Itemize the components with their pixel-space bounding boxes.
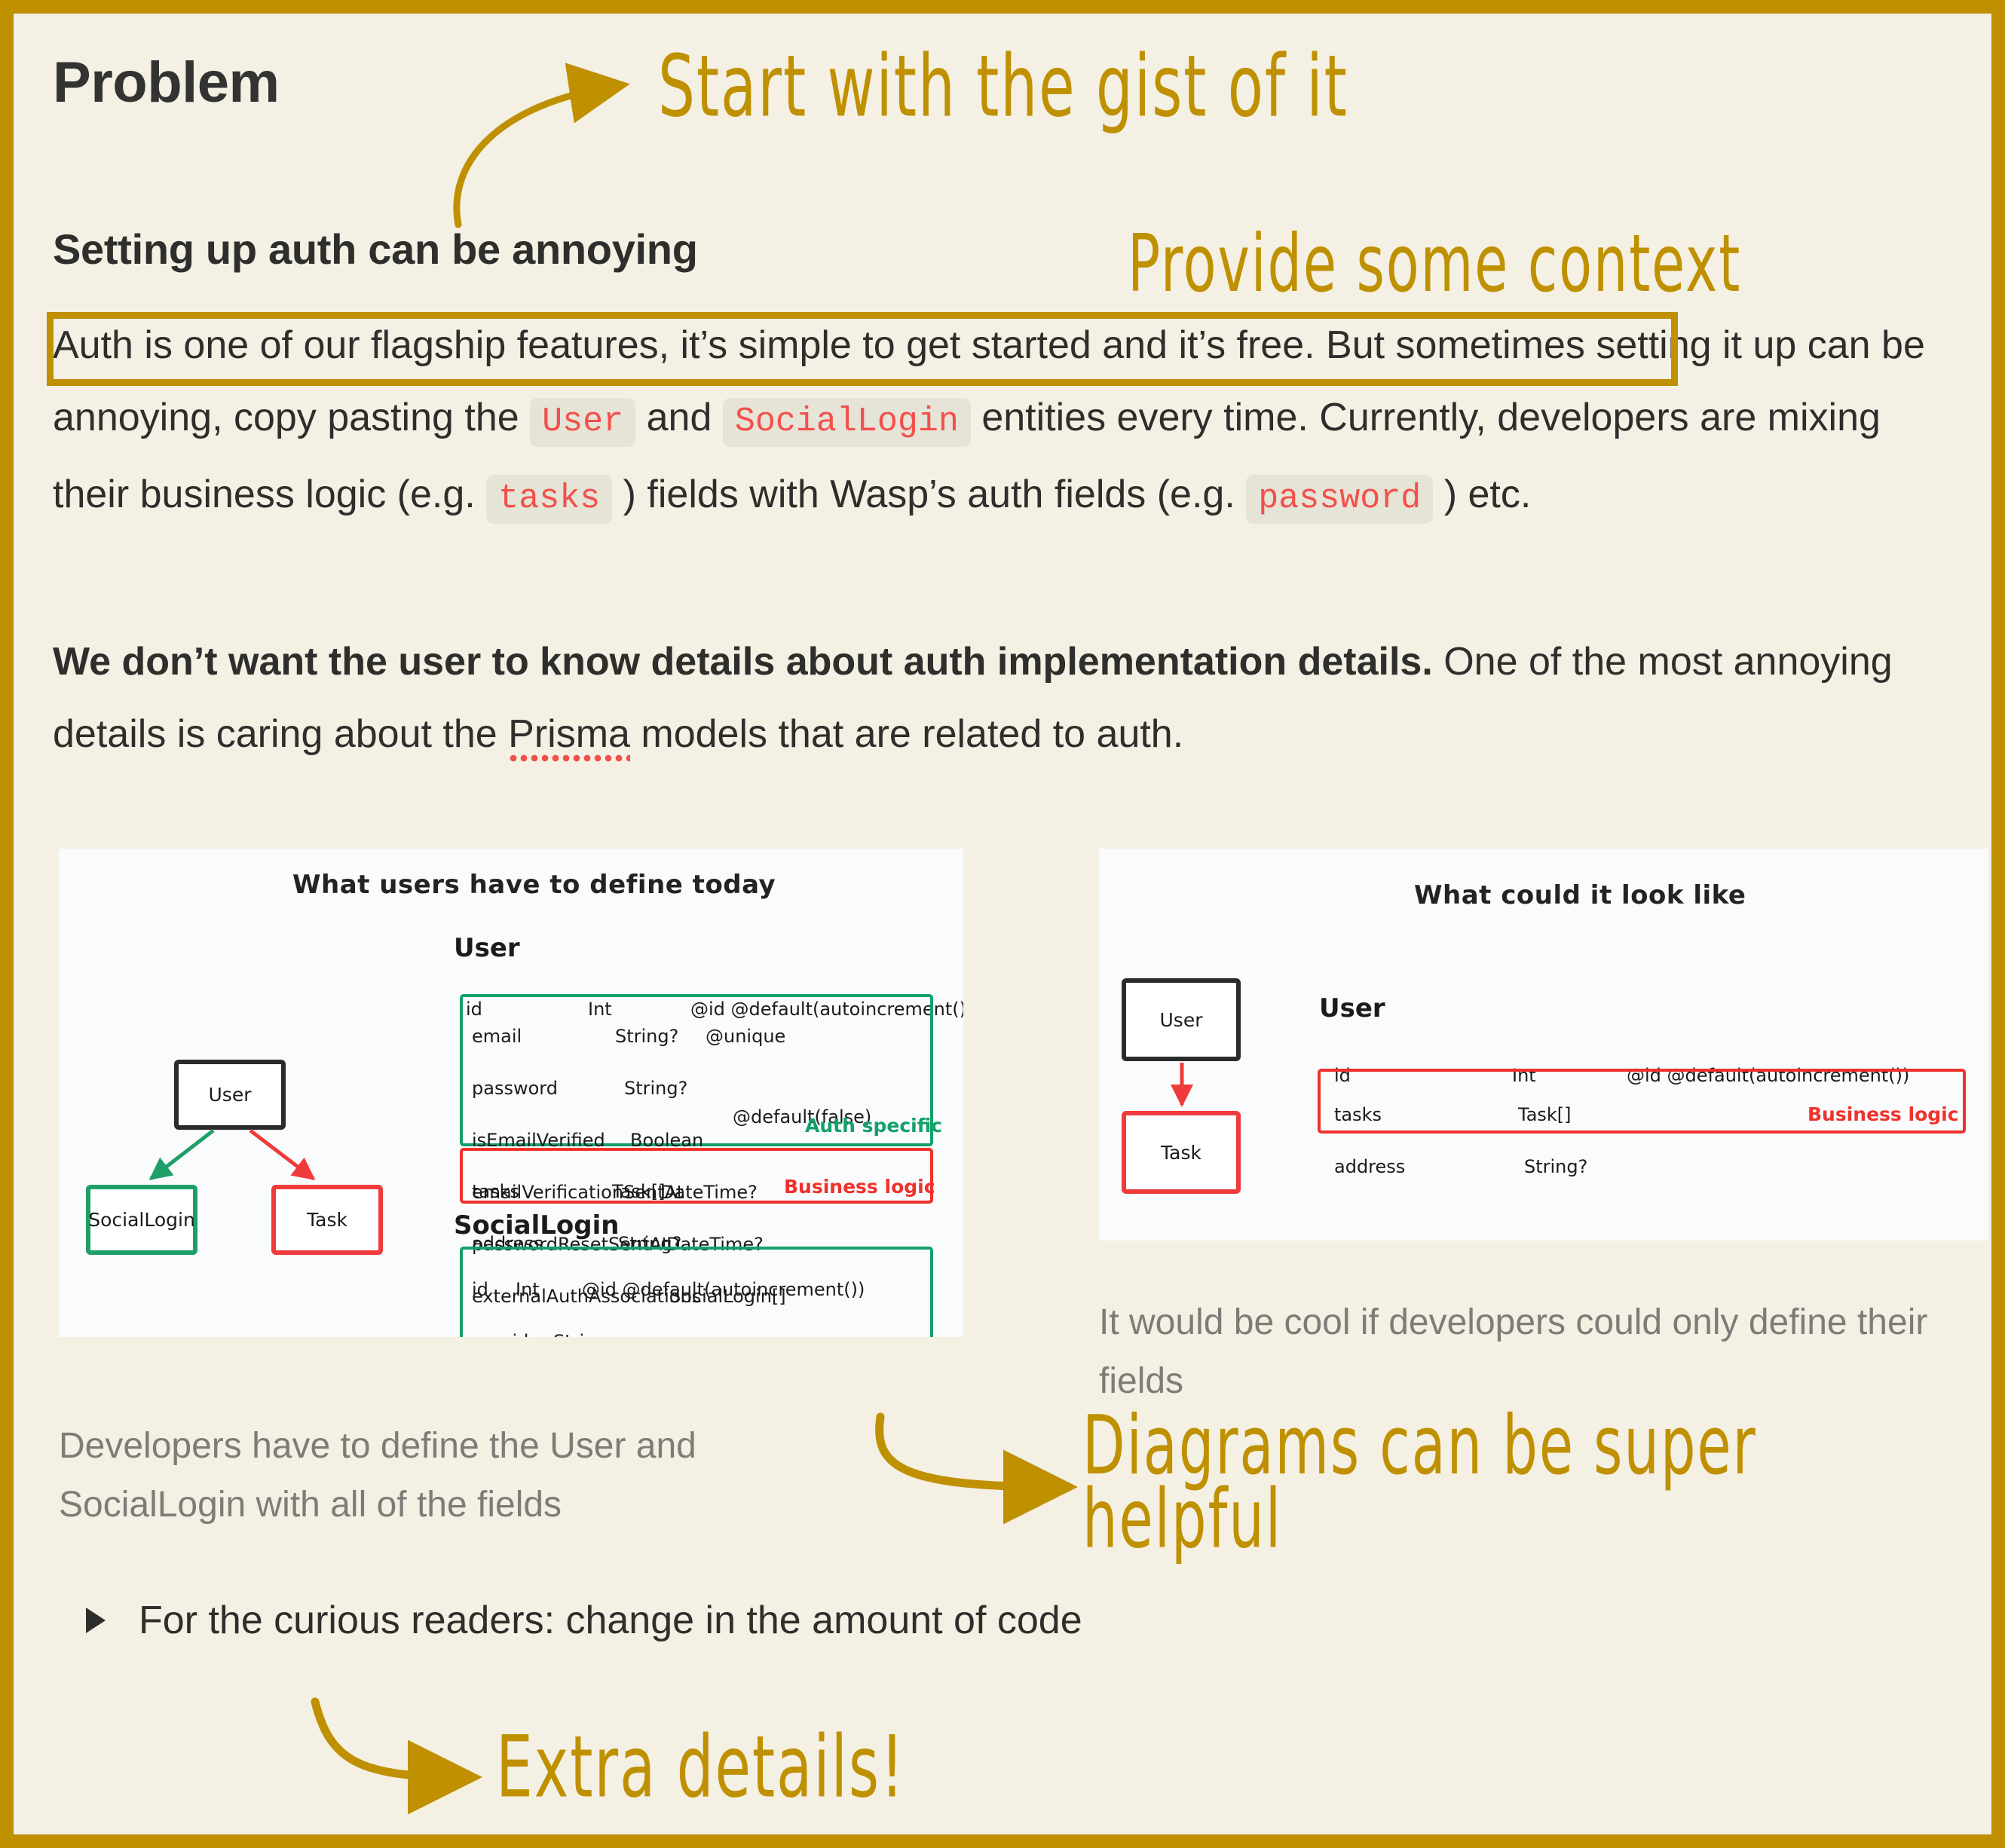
diagram-panel-left: What users have to define today User Soc…	[59, 849, 963, 1337]
schema-row-type: String?	[1524, 1155, 1587, 1179]
entity-label: Task	[1161, 1142, 1201, 1164]
diagram-panel-right: What could it look like User Task User i…	[1099, 849, 1988, 1241]
collapsible-curious-readers[interactable]: For the curious readers: change in the a…	[86, 1598, 1082, 1643]
collapsible-label: For the curious readers: change in the a…	[139, 1598, 1082, 1643]
diagram-left-title: What users have to define today	[292, 870, 776, 900]
p2-text-b: models that are related to auth.	[630, 712, 1183, 756]
entity-label: User	[1160, 1009, 1203, 1031]
paragraph-intro: Auth is one of our flagship features, it…	[53, 309, 1952, 535]
schema-sociallogin-attrs: @id @default(autoincrement()) @relation …	[472, 1250, 865, 1337]
slide-content: Problem Setting up auth can be annoying …	[14, 14, 1991, 1834]
entity-box-task-right: Task	[1122, 1111, 1241, 1194]
schema-row-type: Task[]	[612, 1180, 681, 1204]
hook-arrow-right-icon	[880, 1417, 1061, 1487]
spellcheck-word-prisma: Prisma	[508, 712, 630, 763]
section-subtitle: Setting up auth can be annoying	[53, 225, 698, 274]
caption-left: Developers have to define the User and S…	[59, 1417, 888, 1534]
schema-title-sociallogin: SocialLogin	[454, 1210, 619, 1241]
tag-business-logic-right: Business logic	[1808, 1103, 1959, 1125]
curved-arrow-up-right-icon	[457, 86, 617, 225]
entity-box-user: User	[174, 1060, 286, 1130]
entity-label: SocialLogin	[88, 1209, 195, 1231]
tag-auth-specific-user: Auth specific	[805, 1115, 942, 1137]
p1-text-d: ) fields with Wasp’s auth fields (e.g.	[612, 473, 1246, 516]
schema-title-user-right: User	[1319, 993, 1385, 1023]
annotation-start-with-gist: Start with the gist of it	[658, 36, 1348, 136]
tag-business-logic-user: Business logic	[784, 1176, 935, 1198]
highlighted-sentence: Auth is one of our flagship features, it…	[53, 323, 1315, 367]
code-password: password	[1246, 475, 1433, 524]
entity-label: User	[209, 1084, 252, 1106]
p2-bold-lead: We don’t want the user to know details a…	[53, 640, 1433, 684]
code-tasks: tasks	[486, 475, 612, 524]
page-title: Problem	[53, 50, 280, 115]
schema-row-attrs: @id @default(autoincrement())	[582, 1278, 865, 1302]
annotation-provide-context: Provide some context	[1128, 219, 1741, 311]
entity-box-sociallogin: SocialLogin	[86, 1185, 197, 1255]
schema-row-type: Task[]	[1518, 1103, 1587, 1127]
entity-box-task: Task	[271, 1185, 383, 1255]
caption-right: It would be cool if developers could onl…	[1099, 1293, 1928, 1411]
code-sociallogin: SocialLogin	[723, 398, 971, 447]
paragraph-detail: We don’t want the user to know details a…	[53, 626, 1952, 770]
triangle-right-icon[interactable]	[86, 1608, 106, 1633]
annotation-diagrams-helpful: Diagrams can be super helpful	[1082, 1409, 1757, 1556]
hook-arrow-right-icon-2	[315, 1702, 466, 1777]
schema-title-user: User	[454, 933, 520, 963]
schema-row-attrs: @unique	[706, 1025, 871, 1048]
entity-box-user-right: User	[1122, 978, 1241, 1061]
annotation-extra-details: Extra details!	[496, 1717, 905, 1816]
diagram-right-title: What could it look like	[1414, 880, 1746, 910]
schema-right-business-types: Task[] String?	[1334, 1075, 1587, 1207]
slide-page: Problem Setting up auth can be annoying …	[0, 0, 2005, 1848]
code-user: User	[530, 398, 635, 447]
p1-text-b: and	[635, 396, 723, 439]
p1-text-e: ) etc.	[1433, 473, 1531, 516]
entity-label: Task	[307, 1209, 347, 1231]
